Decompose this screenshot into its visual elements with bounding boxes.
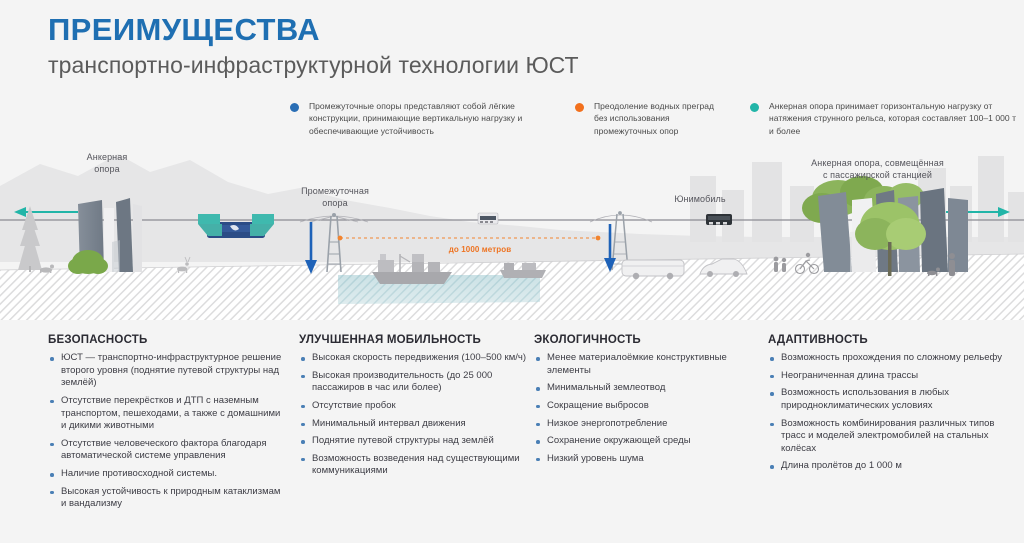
list-item: Сохранение окружающей среды xyxy=(534,435,756,448)
legend-item-label: Преодоление водных преград без использов… xyxy=(594,100,720,137)
list-item: Длина пролётов до 1 000 м xyxy=(768,460,1016,473)
list-item: Поднятие путевой структуры над землёй xyxy=(299,435,527,448)
label-anchor-support-right: Анкерная опора, совмещённая с пассажирск… xyxy=(780,158,975,181)
list-item: Менее материалоёмкие конструктивные элем… xyxy=(534,352,756,377)
benefit-list: Возможность прохождения по сложному рель… xyxy=(768,352,1016,473)
list-item: Минимальный интервал движения xyxy=(299,418,527,431)
legend-dot-orange-icon xyxy=(575,103,584,112)
legend-item-label: Анкерная опора принимает горизонтальную … xyxy=(769,100,1020,137)
list-item: Отсутствие перекрёстков и ДТП с наземным… xyxy=(48,395,288,433)
unimobile-vehicle xyxy=(706,214,732,225)
benefit-list: Менее материалоёмкие конструктивные элем… xyxy=(534,352,756,465)
label-span-distance: до 1000 метров xyxy=(430,245,530,255)
label-intermediate-support: Промежуточная опора xyxy=(280,186,390,209)
rail-cabin-left xyxy=(478,213,498,224)
benefit-list: ЮСТ — транспортно-инфраструктурное решен… xyxy=(48,352,288,511)
list-item: Минимальный землеотвод xyxy=(534,382,756,395)
bus-silhouette xyxy=(622,260,684,279)
label-anchor-support-left: Анкерная опора xyxy=(62,152,152,175)
list-item: Неограниченная длина трассы xyxy=(768,370,1016,383)
infographic-page: ПРЕИМУЩЕСТВА транспортно-инфраструктурно… xyxy=(0,0,1024,543)
column-title: БЕЗОПАСНОСТЬ xyxy=(48,334,288,346)
label-unimobile: Юнимобиль xyxy=(655,194,745,206)
list-item: Высокая устойчивость к природным катакли… xyxy=(48,486,288,511)
benefit-column-ecology: ЭКОЛОГИЧНОСТЬ Менее материалоёмкие конст… xyxy=(534,334,756,470)
list-item: Сокращение выбросов xyxy=(534,400,756,413)
list-item: Возможность возведения над существующими… xyxy=(299,453,527,478)
legend-dot-blue-icon xyxy=(290,103,299,112)
list-item: Высокая производительность (до 25 000 па… xyxy=(299,370,527,395)
list-item: ЮСТ — транспортно-инфраструктурное решен… xyxy=(48,352,288,390)
legend-dot-teal-icon xyxy=(750,103,759,112)
benefits-columns: БЕЗОПАСНОСТЬ ЮСТ — транспортно-инфрастру… xyxy=(0,322,1024,543)
benefit-column-safety: БЕЗОПАСНОСТЬ ЮСТ — транспортно-инфрастру… xyxy=(48,334,288,516)
column-title: АДАПТИВНОСТЬ xyxy=(768,334,1016,346)
legend-item-intermediate-support: Промежуточные опоры представляют собой л… xyxy=(290,100,540,137)
legend-item-anchor-support: Анкерная опора принимает горизонтальную … xyxy=(750,100,1020,137)
list-item: Возможность прохождения по сложному рель… xyxy=(768,352,1016,365)
column-title: УЛУЧШЕННАЯ МОБИЛЬНОСТЬ xyxy=(299,334,527,346)
legend-item-water-crossing: Преодоление водных преград без использов… xyxy=(575,100,720,137)
list-item: Низкое энергопотребление xyxy=(534,418,756,431)
list-item: Возможность использования в любых природ… xyxy=(768,387,1016,412)
scene-illustration: Анкерная опора Промежуточная опора Юнимо… xyxy=(0,142,1024,320)
list-item: Возможность комбинирования различных тип… xyxy=(768,418,1016,456)
page-subtitle: транспортно-инфраструктурной технологии … xyxy=(48,52,579,80)
benefit-column-mobility: УЛУЧШЕННАЯ МОБИЛЬНОСТЬ Высокая скорость … xyxy=(299,334,527,483)
list-item: Наличие противосходной системы. xyxy=(48,468,288,481)
list-item: Низкий уровень шума xyxy=(534,453,756,466)
list-item: Отсутствие пробок xyxy=(299,400,527,413)
header: ПРЕИМУЩЕСТВА транспортно-инфраструктурно… xyxy=(48,14,579,79)
list-item: Высокая скорость передвижения (100–500 к… xyxy=(299,352,527,365)
list-item: Отсутствие человеческого фактора благода… xyxy=(48,438,288,463)
legend-item-label: Промежуточные опоры представляют собой л… xyxy=(309,100,540,137)
page-title: ПРЕИМУЩЕСТВА xyxy=(48,14,579,47)
column-title: ЭКОЛОГИЧНОСТЬ xyxy=(534,334,756,346)
benefit-list: Высокая скорость передвижения (100–500 к… xyxy=(299,352,527,478)
benefit-column-adaptivity: АДАПТИВНОСТЬ Возможность прохождения по … xyxy=(768,334,1016,478)
